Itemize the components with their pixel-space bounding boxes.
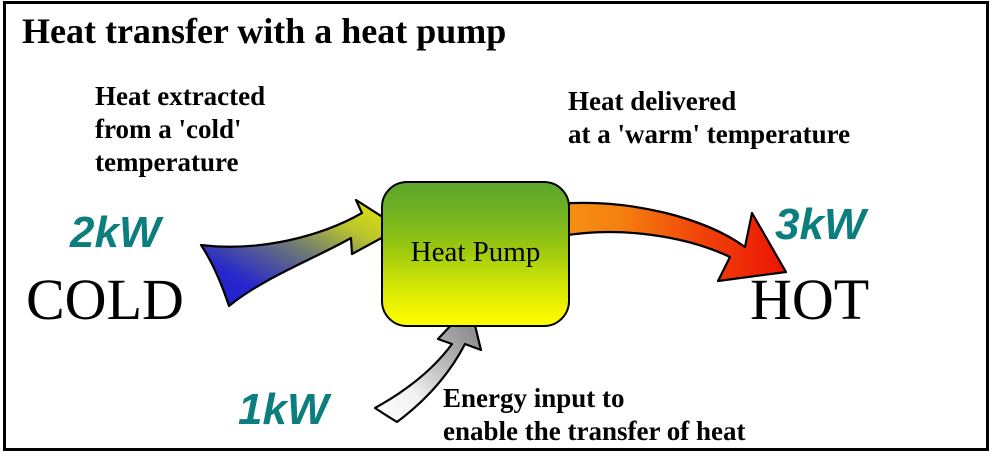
- heat-pump-label: Heat Pump: [381, 236, 570, 269]
- page-title: Heat transfer with a heat pump: [22, 10, 506, 52]
- value-label-3kw: 3kW: [775, 200, 865, 250]
- heat-extracted-caption: Heat extracted from a 'cold' temperature: [95, 80, 265, 179]
- hot-reservoir-label: HOT: [750, 266, 869, 333]
- value-label-1kw: 1kW: [238, 385, 328, 435]
- energy-input-caption: Energy input to enable the transfer of h…: [443, 382, 745, 448]
- heat-delivered-caption: Heat delivered at a 'warm' temperature: [568, 85, 850, 151]
- cold-reservoir-label: COLD: [26, 266, 184, 333]
- diagram-canvas: Heat transfer with a heat pump: [0, 0, 998, 462]
- value-label-2kw: 2kW: [70, 208, 160, 258]
